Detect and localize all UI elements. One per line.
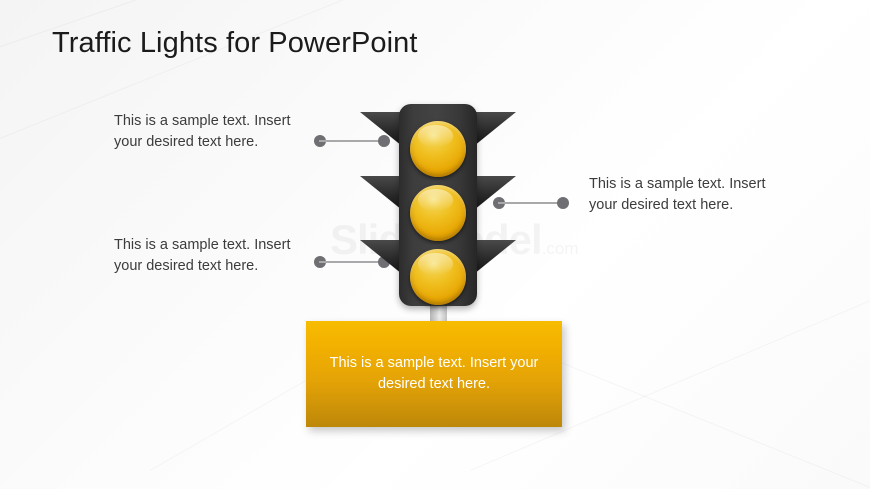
traffic-light-graphic [358, 100, 518, 350]
watermark-suffix: .com [542, 239, 579, 258]
callout-text-bottom-left: This is a sample text. Insert your desir… [114, 235, 294, 276]
slide-canvas: SlideModel.com Traffic Lights for PowerP… [0, 0, 870, 489]
lamp-visor-right-bottom [474, 240, 516, 274]
traffic-light-lamp-middle[interactable] [410, 185, 466, 241]
background-streak [556, 360, 870, 489]
lamp-visor-left-top [360, 112, 402, 146]
lamp-visor-right-middle [474, 176, 516, 210]
callout-text-right: This is a sample text. Insert your desir… [589, 174, 774, 215]
lamp-visor-left-bottom [360, 240, 402, 274]
callout-text-top-left: This is a sample text. Insert your desir… [114, 111, 294, 152]
page-title: Traffic Lights for PowerPoint [52, 27, 418, 60]
caption-box[interactable]: This is a sample text. Insert your desir… [306, 321, 562, 427]
connector-dot-end [557, 197, 569, 209]
lamp-visor-right-top [474, 112, 516, 146]
caption-box-text: This is a sample text. Insert your desir… [306, 353, 562, 395]
lamp-visor-left-middle [360, 176, 402, 210]
traffic-light-lamp-bottom[interactable] [410, 249, 466, 305]
traffic-light-lamp-top[interactable] [410, 121, 466, 177]
